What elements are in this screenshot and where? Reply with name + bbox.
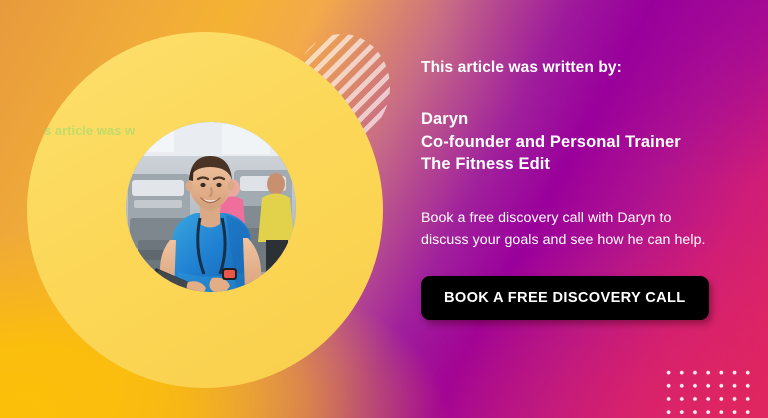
trainer-photo-icon bbox=[126, 122, 296, 292]
content-column: This article was written by: Daryn Co-fo… bbox=[421, 0, 751, 418]
intro-line: This article was written by: bbox=[421, 59, 622, 77]
body-copy-line-1: Book a free discovery call with Daryn to bbox=[421, 207, 741, 229]
author-credit: Daryn Co-founder and Personal Trainer Th… bbox=[421, 108, 681, 176]
author-company: The Fitness Edit bbox=[421, 153, 681, 176]
avatar bbox=[126, 122, 296, 292]
body-copy-line-2: discuss your goals and see how he can he… bbox=[421, 229, 741, 251]
author-role: Co-founder and Personal Trainer bbox=[421, 131, 681, 154]
book-discovery-call-label: BOOK A FREE DISCOVERY CALL bbox=[444, 290, 686, 306]
body-copy: Book a free discovery call with Daryn to… bbox=[421, 207, 741, 251]
author-name: Daryn bbox=[421, 108, 681, 131]
author-promo-banner: s article was w bbox=[0, 0, 768, 418]
book-discovery-call-button[interactable]: BOOK A FREE DISCOVERY CALL bbox=[421, 276, 709, 320]
